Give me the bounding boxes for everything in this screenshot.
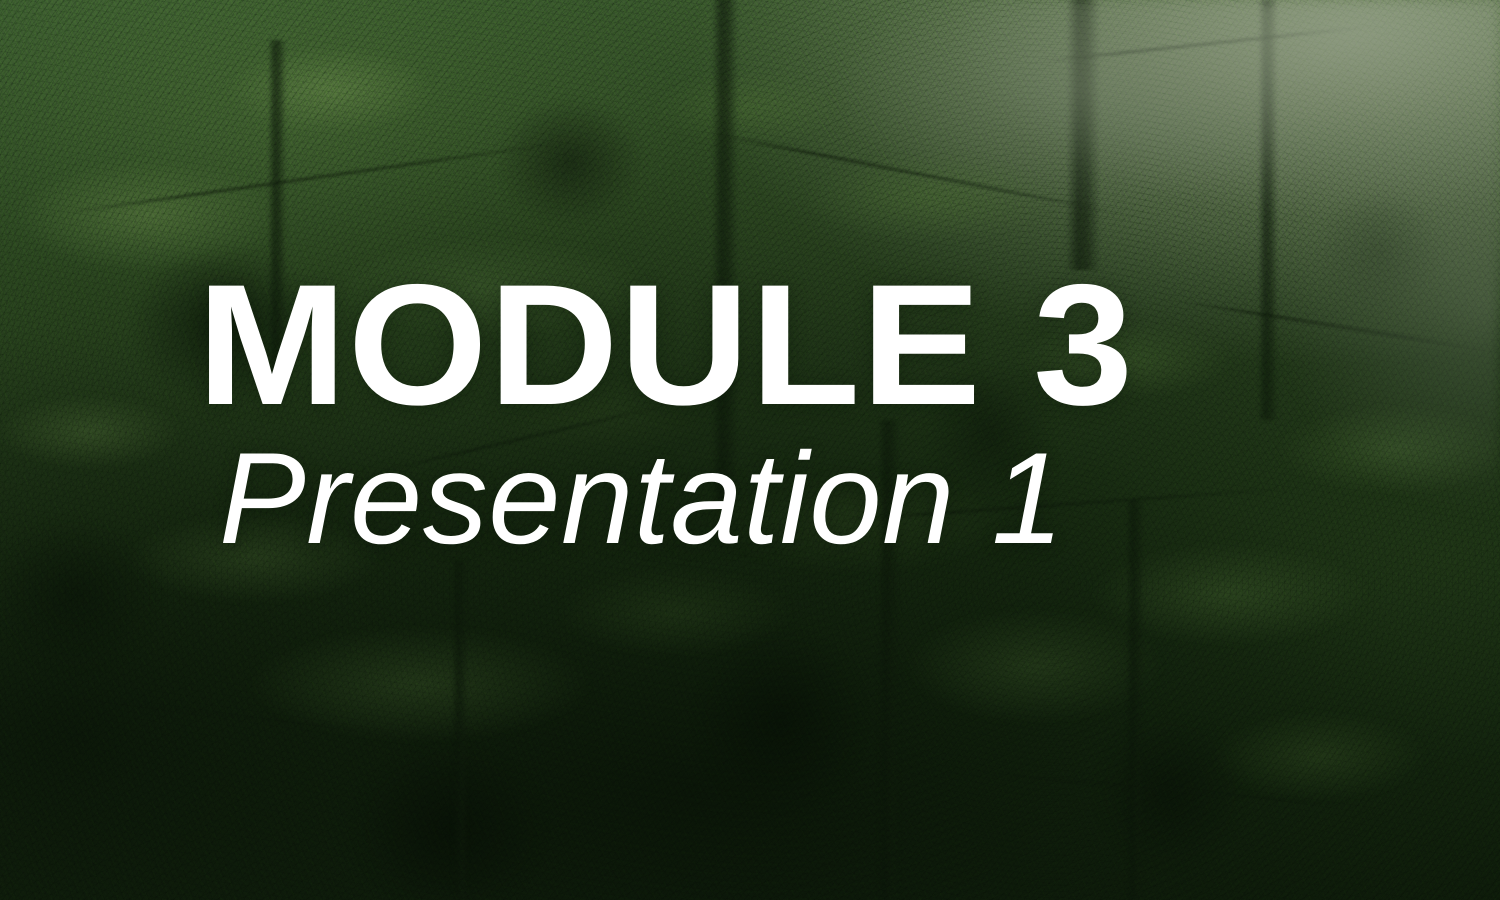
title-text-block: MODULE 3 Presentation 1 bbox=[197, 268, 1317, 563]
title-slide: MODULE 3 Presentation 1 bbox=[0, 0, 1500, 900]
page-title: MODULE 3 bbox=[197, 268, 1367, 423]
page-subtitle: Presentation 1 bbox=[219, 433, 1317, 563]
